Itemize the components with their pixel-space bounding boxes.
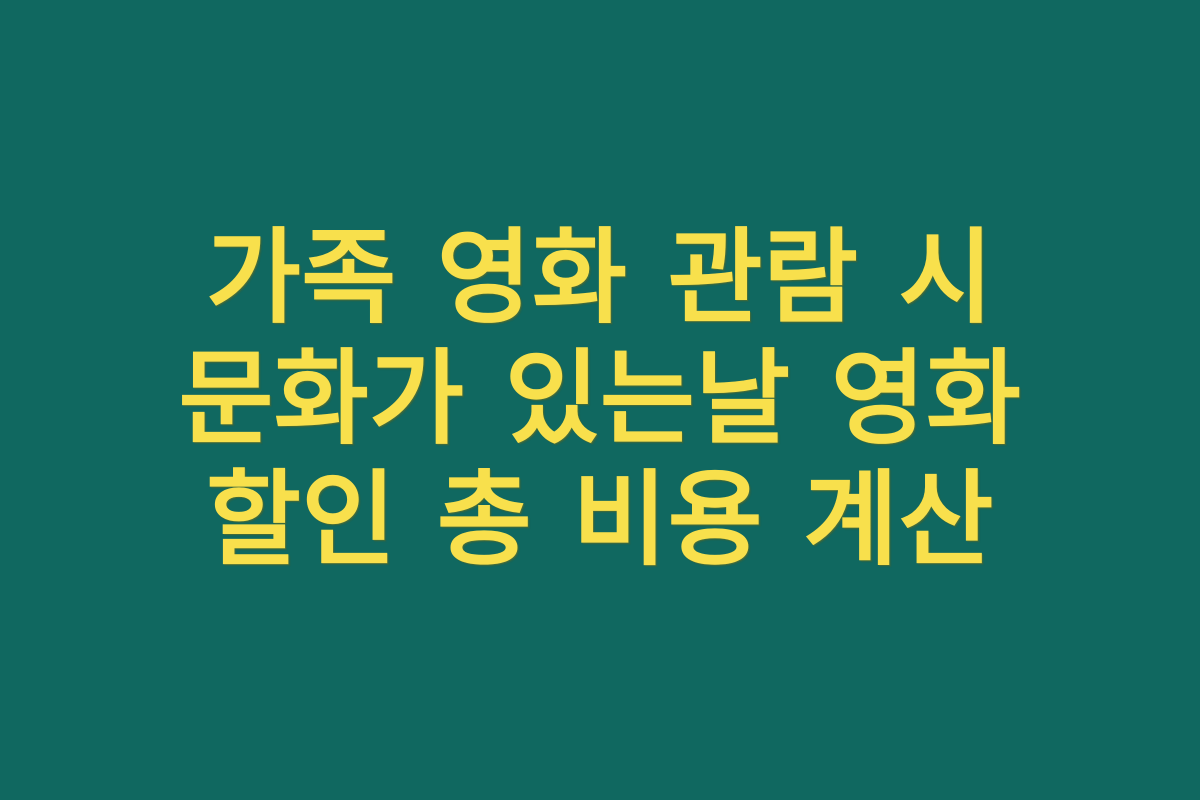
banner-canvas: 가족 영화 관람 시 문화가 있는날 영화 할인 총 비용 계산 [0, 0, 1200, 800]
headline-text: 가족 영화 관람 시 문화가 있는날 영화 할인 총 비용 계산 [95, 218, 1105, 581]
